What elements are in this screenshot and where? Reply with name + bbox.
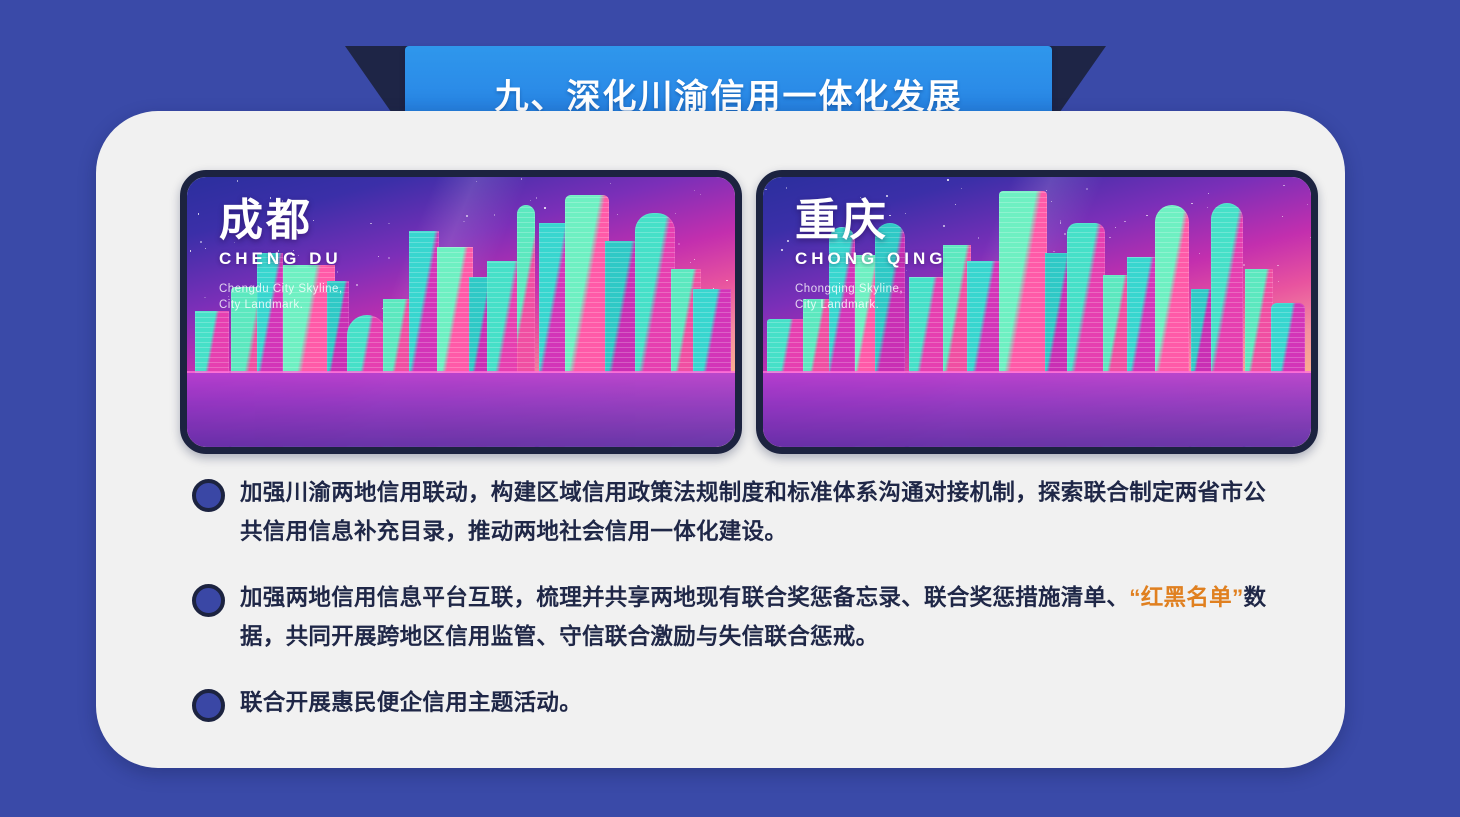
bullet-text-3: 联合开展惠民便企信用主题活动。 (240, 683, 1282, 722)
chongqing-cn-name: 重庆 (795, 199, 946, 243)
building-shape (517, 205, 535, 373)
building-windows (1067, 223, 1105, 373)
building-shape (383, 447, 417, 454)
building-windows (999, 191, 1047, 373)
building-shape (347, 315, 387, 373)
building-windows (565, 195, 609, 373)
building-shape (437, 247, 473, 373)
building-windows (999, 447, 1047, 454)
building-windows (257, 447, 283, 454)
water-reflection-area (763, 373, 1311, 447)
building-windows (487, 447, 527, 454)
building-shape (1155, 447, 1189, 454)
building-shape (999, 447, 1047, 454)
building-shape (967, 261, 1001, 373)
building-windows (767, 447, 807, 454)
building-shape (1271, 447, 1305, 454)
building-shape (605, 447, 639, 454)
city-panel-chongqing: 重庆 CHONG QING Chongqing Skyline, City La… (756, 170, 1318, 454)
building-windows (1127, 257, 1157, 373)
building-shape (409, 447, 439, 454)
building-windows (1067, 447, 1105, 454)
building-shape (1245, 447, 1273, 454)
building-shape (605, 241, 639, 373)
building-shape (469, 447, 495, 454)
building-windows (635, 447, 675, 454)
building-windows (195, 311, 229, 373)
building-windows (1155, 205, 1189, 373)
chengdu-cn-name: 成都 (219, 199, 343, 243)
chengdu-label-block: 成都 CHENG DU Chengdu City Skyline, City L… (219, 199, 343, 313)
bullet-text-3-pre: 联合开展惠民便企信用主题活动。 (240, 690, 582, 715)
building-shape (487, 447, 527, 454)
bullet-list: 加强川渝两地信用联动，构建区域信用政策法规制度和标准体系沟通对接机制，探索联合制… (192, 473, 1282, 722)
building-windows (803, 447, 833, 454)
building-windows (539, 447, 569, 454)
bullet-text-2: 加强两地信用信息平台互联，梳理并共享两地现有联合奖惩备忘录、联合奖惩措施清单、“… (240, 578, 1282, 657)
building-windows (671, 447, 701, 454)
building-shape (1245, 269, 1273, 373)
building-windows (1191, 447, 1213, 454)
chongqing-subtitle-line2: City Landmark. (795, 298, 946, 314)
building-shape (565, 447, 609, 454)
building-shape (1045, 447, 1071, 454)
building-windows (437, 447, 473, 454)
star-icon (947, 179, 948, 180)
building-windows (693, 289, 731, 373)
building-windows (347, 447, 387, 454)
chengdu-subtitle-line2: City Landmark. (219, 298, 343, 314)
building-shape (437, 447, 473, 454)
chongqing-en-name: CHONG QING (795, 249, 946, 269)
building-shape (257, 447, 283, 454)
bullet-dot-icon (192, 479, 225, 512)
building-windows (605, 447, 639, 454)
building-windows (283, 447, 335, 454)
list-item: 加强两地信用信息平台互联，梳理并共享两地现有联合奖惩备忘录、联合奖惩措施清单、“… (192, 578, 1282, 657)
chengdu-subtitle-line1: Chengdu City Skyline, (219, 282, 343, 298)
building-windows (767, 319, 807, 373)
building-windows (1127, 447, 1157, 454)
building-shape (1067, 447, 1105, 454)
chengdu-subtitle: Chengdu City Skyline, City Landmark. (219, 282, 343, 313)
building-shape (195, 311, 229, 373)
building-windows (517, 447, 535, 454)
building-windows (943, 447, 971, 454)
building-shape (767, 319, 807, 373)
building-windows (875, 447, 905, 454)
bullet-text-1-pre: 加强川渝两地信用联动，构建区域信用政策法规制度和标准体系沟通对接机制，探索联合制… (240, 480, 1266, 544)
building-shape (909, 447, 945, 454)
building-shape (195, 447, 229, 454)
building-windows (1211, 447, 1243, 454)
building-windows (635, 213, 675, 373)
chongqing-subtitle: Chongqing Skyline, City Landmark. (795, 282, 946, 313)
building-shape (635, 213, 675, 373)
chongqing-subtitle-line1: Chongqing Skyline, (795, 282, 946, 298)
bullet-dot-icon (192, 584, 225, 617)
skyline-reflection (187, 447, 735, 454)
building-shape (1067, 223, 1105, 373)
bullet-text-2-pre: 加强两地信用信息平台互联，梳理并共享两地现有联合奖惩备忘录、联合奖惩措施清单、 (240, 585, 1129, 610)
building-windows (967, 261, 1001, 373)
building-windows (1191, 289, 1213, 373)
building-shape (565, 195, 609, 373)
building-windows (829, 447, 855, 454)
building-windows (1271, 303, 1305, 373)
building-windows (231, 447, 277, 454)
building-shape (1103, 447, 1131, 454)
list-item: 加强川渝两地信用联动，构建区域信用政策法规制度和标准体系沟通对接机制，探索联合制… (192, 473, 1282, 552)
building-shape (1211, 447, 1243, 454)
building-windows (327, 447, 349, 454)
building-windows (1245, 269, 1273, 373)
building-windows (565, 447, 609, 454)
bullet-text-2-highlight: “红黑名单” (1129, 585, 1243, 610)
building-windows (437, 247, 473, 373)
building-shape (517, 447, 535, 454)
water-reflection-area (187, 373, 735, 447)
building-windows (1103, 447, 1131, 454)
building-shape (855, 447, 879, 454)
building-windows (195, 447, 229, 454)
building-shape (693, 447, 731, 454)
star-icon (237, 180, 238, 181)
building-shape (1271, 303, 1305, 373)
building-shape (1155, 205, 1189, 373)
list-item: 联合开展惠民便企信用主题活动。 (192, 683, 1282, 722)
building-shape (347, 447, 387, 454)
building-shape (409, 231, 439, 373)
building-shape (283, 447, 335, 454)
city-image-row: 成都 CHENG DU Chengdu City Skyline, City L… (180, 170, 1318, 454)
building-windows (1155, 447, 1189, 454)
building-shape (967, 447, 1001, 454)
building-shape (999, 191, 1047, 373)
building-shape (1211, 203, 1243, 373)
building-windows (1211, 203, 1243, 373)
building-windows (855, 447, 879, 454)
building-windows (409, 231, 439, 373)
skyline-reflection (763, 447, 1311, 454)
building-windows (383, 447, 417, 454)
bullet-text-1: 加强川渝两地信用联动，构建区域信用政策法规制度和标准体系沟通对接机制，探索联合制… (240, 473, 1282, 552)
building-shape (693, 289, 731, 373)
building-windows (1271, 447, 1305, 454)
building-shape (231, 447, 277, 454)
building-windows (347, 315, 387, 373)
building-shape (327, 447, 349, 454)
building-windows (517, 205, 535, 373)
building-windows (605, 241, 639, 373)
content-card: 成都 CHENG DU Chengdu City Skyline, City L… (96, 111, 1345, 768)
chengdu-en-name: CHENG DU (219, 249, 343, 269)
building-shape (1127, 447, 1157, 454)
building-shape (803, 447, 833, 454)
building-shape (1191, 447, 1213, 454)
building-shape (635, 447, 675, 454)
building-shape (829, 447, 855, 454)
building-shape (767, 447, 807, 454)
building-windows (909, 447, 945, 454)
building-shape (671, 447, 701, 454)
building-windows (1045, 447, 1071, 454)
building-shape (1127, 257, 1157, 373)
chongqing-label-block: 重庆 CHONG QING Chongqing Skyline, City La… (795, 199, 946, 313)
building-shape (539, 447, 569, 454)
building-shape (1191, 289, 1213, 373)
building-windows (469, 447, 495, 454)
city-panel-chengdu: 成都 CHENG DU Chengdu City Skyline, City L… (180, 170, 742, 454)
star-icon (521, 178, 522, 179)
building-windows (967, 447, 1001, 454)
building-windows (693, 447, 731, 454)
building-windows (1245, 447, 1273, 454)
building-windows (409, 447, 439, 454)
building-shape (943, 447, 971, 454)
bullet-dot-icon (192, 689, 225, 722)
building-shape (875, 447, 905, 454)
